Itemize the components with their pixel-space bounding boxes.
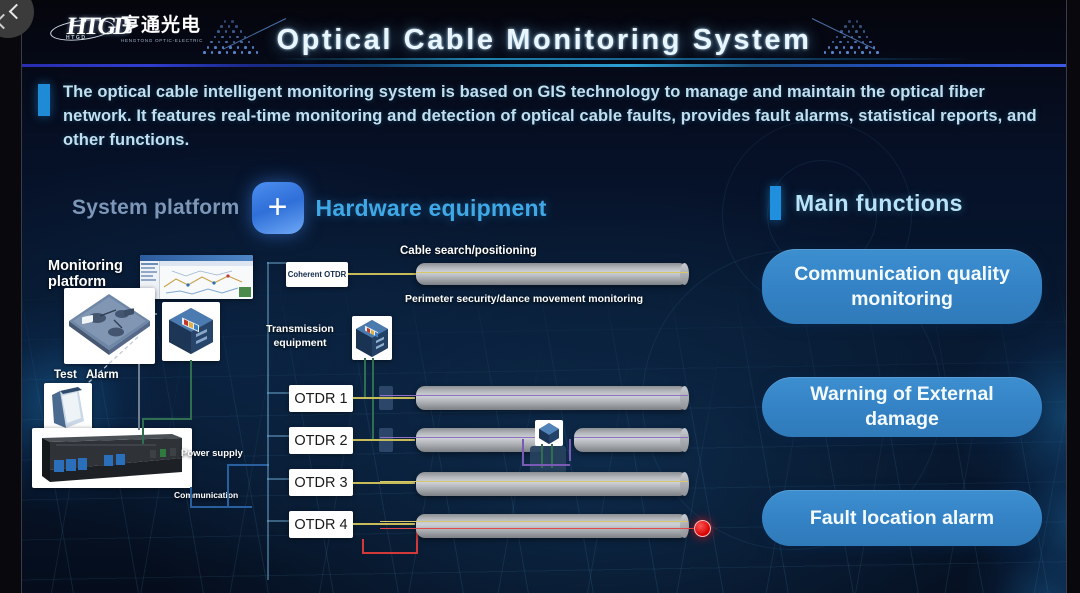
box-otdr-3[interactable]: OTDR 3: [289, 469, 353, 496]
plus-sign: +: [268, 192, 288, 222]
fiber-core-row1: [380, 395, 688, 396]
main-functions-heading: Main functions: [770, 186, 963, 220]
box-otdr-4[interactable]: OTDR 4: [289, 511, 353, 538]
header-rule: [22, 64, 1066, 67]
slide-stage: HTGD HTGD 亨通光电 HENGTONG OPTIC-ELECTRIC O…: [22, 0, 1066, 593]
fiber-feed-coherent: [348, 273, 416, 275]
dashed-link-test: [82, 335, 142, 387]
function-pill-communication-quality[interactable]: Communication quality monitoring: [762, 249, 1042, 324]
switch-device-card: [162, 302, 220, 361]
fiber-feed-otdr2: [353, 439, 415, 441]
gis-map-screenshot: [140, 255, 253, 299]
wire-power-h: [227, 464, 269, 466]
right-letterbox: [1066, 0, 1080, 593]
main-functions-title: Main functions: [795, 190, 963, 217]
box-otdr-1[interactable]: OTDR 1: [289, 385, 353, 412]
decor-dot: [224, 20, 227, 23]
bus-branch: [267, 520, 289, 522]
header-rule-secondary: [272, 58, 972, 60]
decor-dot: [856, 20, 859, 23]
server-rack-card: [32, 428, 192, 488]
cable-tube-row3: [416, 472, 688, 496]
fault-path-horizontal: [362, 552, 418, 554]
communication-label: Communication: [174, 490, 238, 500]
wire-stub: [155, 313, 157, 315]
wire-communication: [190, 487, 192, 507]
intro-block: The optical cable intelligent monitoring…: [38, 80, 1038, 152]
right-edge-line: [1066, 0, 1067, 593]
page-title: Optical Cable Monitoring System: [22, 26, 1066, 55]
chevron-left-icon: [8, 3, 24, 19]
decor-dot: [231, 20, 234, 23]
fiber-core-row3: [380, 481, 688, 482]
plus-badge-icon: +: [252, 182, 304, 234]
cable-tube-top: [416, 263, 688, 285]
fiber-core-row4: [380, 521, 688, 522]
cable-tube-row1: [416, 386, 688, 410]
vertical-bus-line: [267, 262, 269, 580]
function-pill-fault-location[interactable]: Fault location alarm: [762, 490, 1042, 546]
cable-tube-row2-left: [416, 428, 544, 452]
perimeter-security-label: Perimeter security/dance movement monito…: [405, 293, 643, 305]
bus-branch: [267, 435, 289, 437]
joint-wire-purple-b: [569, 439, 571, 461]
bus-branch: [267, 392, 289, 394]
cable-search-label: Cable search/positioning: [400, 245, 537, 257]
wire-trans-to-otdr1: [364, 358, 366, 398]
slide-root: HTGD HTGD 亨通光电 HENGTONG OPTIC-ELECTRIC O…: [0, 0, 1080, 593]
joint-wire-purple-a: [522, 439, 524, 465]
bus-branch: [267, 478, 289, 480]
system-platform-label: System platform: [72, 196, 240, 220]
wire-switch-down: [142, 418, 144, 444]
fault-indicator-dot: [694, 520, 711, 537]
wire-power: [227, 465, 229, 507]
hardware-equipment-label: Hardware equipment: [316, 195, 547, 222]
fault-path-vertical: [362, 539, 364, 553]
fiber-core-row2-left: [380, 437, 544, 438]
test-label: Test: [54, 369, 77, 381]
intro-accent-bar: [38, 84, 50, 116]
wire-trans-to-otdr2: [372, 358, 374, 440]
decor-dot: [848, 20, 851, 23]
fiber-feed-otdr1: [353, 397, 415, 399]
intro-text: The optical cable intelligent monitoring…: [63, 80, 1038, 152]
fiber-core-row2-right: [574, 437, 688, 438]
wire-communication-h: [190, 506, 252, 508]
inline-joint-card: [535, 420, 563, 446]
fiber-core-top: [416, 272, 688, 273]
joint-wire-purple-link: [522, 464, 570, 466]
wire-switch-to-server: [190, 360, 192, 420]
power-supply-label: Power supply: [181, 448, 243, 459]
fiber-fault-row4: [380, 528, 700, 529]
left-section-heading: System platform + Hardware equipment: [72, 182, 547, 234]
wire-switch-bend: [142, 418, 192, 420]
slide-header: HTGD HTGD 亨通光电 HENGTONG OPTIC-ELECTRIC O…: [22, 0, 1066, 72]
transmission-device-card: [352, 316, 392, 360]
function-pill-external-damage[interactable]: Warning of External damage: [762, 377, 1042, 437]
cable-tube-row4: [416, 514, 688, 538]
left-edge-line: [21, 0, 22, 593]
chevron-left-icon-secondary: [0, 14, 11, 30]
main-functions-accent-bar: [770, 186, 781, 220]
fiber-feed-otdr4: [353, 523, 415, 525]
left-letterbox: [0, 0, 22, 593]
box-otdr-2[interactable]: OTDR 2: [289, 427, 353, 454]
box-coherent-otdr[interactable]: Coherent OTDR: [286, 262, 348, 287]
transmission-equipment-label: Transmission equipment: [266, 322, 334, 350]
cable-tube-row2-right: [574, 428, 688, 452]
